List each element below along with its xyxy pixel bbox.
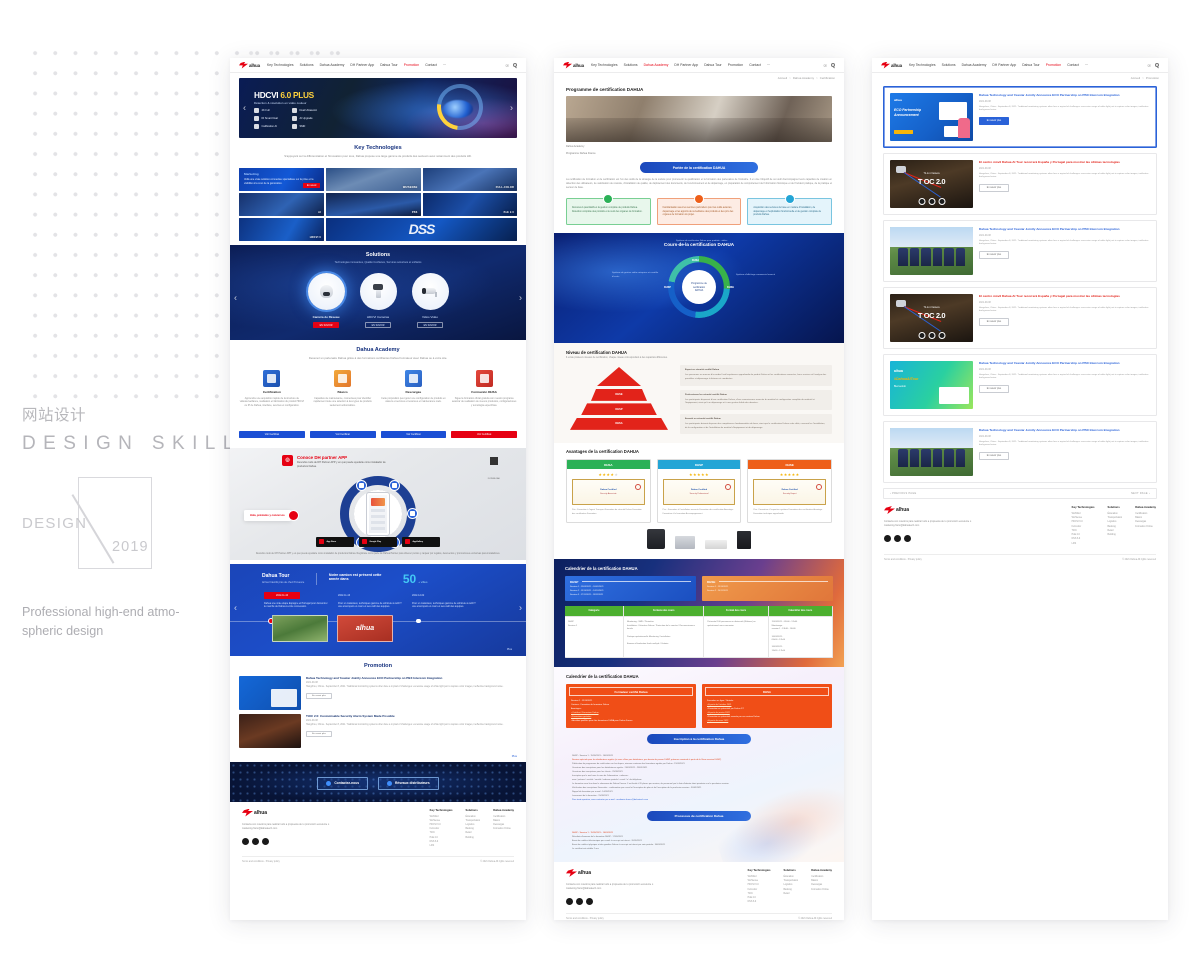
- globe-icon[interactable]: ☉: [505, 63, 509, 68]
- hero-feature: IR Smart Dual: [254, 116, 288, 121]
- footer-column: Solutions Éducation Transportation Logis…: [783, 869, 798, 905]
- nav-item-dahua-academy[interactable]: Dahua Academy: [962, 63, 987, 67]
- footer-column: Key Technologies WizMind WizSense HDCVI …: [430, 809, 453, 849]
- footer-copyright: © 2021 Dahua All rights reserved: [480, 861, 514, 863]
- academy-section: Dahua Academy Devenez un partenaire Dahu…: [230, 340, 526, 444]
- nav-item-dahua-tour[interactable]: Dahua Tour: [704, 63, 722, 67]
- academy-cards: Certification Apprendre une acquisition …: [239, 370, 517, 438]
- footer-legal[interactable]: Terms and conditions - Privacy policy: [566, 918, 604, 920]
- dot-grid-decoration-top: [238, 40, 348, 62]
- nav-links: Key Technologies Solutions Dahua Academy…: [591, 63, 823, 67]
- facebook-icon[interactable]: [242, 838, 249, 845]
- solutions-prev-arrow[interactable]: ‹: [234, 293, 237, 302]
- academy-card[interactable]: Formación DHSA Sigue la formation oficia…: [451, 370, 517, 438]
- footer-socials: [242, 838, 352, 845]
- tour-title: Dahua Tour: [262, 573, 304, 579]
- footer-socials: [884, 535, 994, 542]
- calendar-table: Catégorie Contenu des cours Format des c…: [565, 606, 833, 658]
- academy-card-button[interactable]: Voir Certificat: [239, 431, 305, 438]
- feature-icon: [292, 116, 297, 121]
- hero-features: 4K Full Dual Ultrasonic IR Smart Dual AI…: [254, 108, 326, 129]
- hero-feature: Dual Ultrasonic: [292, 108, 326, 113]
- nav-more-icon[interactable]: ···: [1085, 63, 1088, 67]
- thumb-headline: ECO PartnershipAnnouncement: [894, 108, 921, 117]
- academy-card-text: Apprendre une acquisition rapide de la s…: [239, 397, 305, 427]
- contact-cta-section: Contactez-nous Réseaux distributeurs: [230, 762, 526, 802]
- nav-utilities: ☉: [1147, 63, 1159, 68]
- nav-item-dh-partner-app[interactable]: DH Partner App: [992, 63, 1016, 67]
- merchandise-row: [566, 523, 832, 551]
- nav-utilities: ☉: [505, 63, 517, 68]
- tour-right-text: Notre camion est présent cette année dan…: [329, 573, 391, 583]
- process-body: DHSP - Session 1 : 15/09/2021 - 16/09/20…: [566, 826, 832, 852]
- promotion-thumbnail: [239, 714, 301, 748]
- timeline-point[interactable]: [416, 619, 421, 624]
- news-thumbnail: alhua #DahuaAITour Bienvenido: [890, 361, 973, 409]
- site-footer: alhua Contacta con nosotros para realiza…: [230, 802, 526, 864]
- tech-tile[interactable]: PSS: [326, 193, 421, 216]
- footer-copyright: © 2021 Dahua All rights reserved: [798, 918, 832, 920]
- tour-card-text: Pour un matériaux, techniques gamme de v…: [338, 602, 404, 609]
- linkedin-icon[interactable]: [894, 535, 901, 542]
- solution-button[interactable]: EN SAVOIR: [365, 322, 391, 329]
- tech-tile-lead[interactable]: Marketing Voilà une vraie solution conne…: [239, 168, 324, 191]
- solutions-subtitle: Technologies innovantes, Qualité Confian…: [230, 258, 526, 264]
- tour-prev-arrow[interactable]: ‹: [234, 603, 237, 612]
- hero-prev-arrow[interactable]: ‹: [243, 104, 246, 113]
- thumb-feature-dots: [918, 332, 945, 339]
- tech-tile-dss[interactable]: DSS: [326, 218, 517, 241]
- footer-contact-text: Contacta con nosotros para realizar todo…: [242, 823, 352, 831]
- hero-feature: 4K Full: [254, 108, 288, 113]
- cert-preview-image: Dahua Certified Security Professional: [663, 479, 736, 505]
- promotion-item-text: Hangzhou, China - September 8, 2021. Tra…: [306, 724, 517, 728]
- news-item[interactable]: Tri-in-1 Camera T OC 2.0 El centro móvil…: [883, 287, 1157, 349]
- news-date: 2021-09-08: [979, 369, 1150, 371]
- ptz-camera-icon: [360, 273, 397, 310]
- tech-lead-button[interactable]: En savoir: [303, 183, 320, 187]
- intro-paragraph: La certification de formation et de cert…: [554, 178, 844, 191]
- caption-chinese-title: 网站设计: [22, 404, 232, 427]
- news-title[interactable]: Dahua Technology and Yeastar Jointly Ann…: [979, 227, 1150, 232]
- news-list: alhua ECO PartnershipAnnouncement Dahua …: [872, 82, 1168, 483]
- facebook-icon[interactable]: [566, 898, 573, 905]
- nav-item-key-technologies[interactable]: Key Technologies: [267, 63, 294, 67]
- app-callout-dot-icon: [288, 510, 299, 521]
- pyramid-tier-dhsp: DHSP: [581, 403, 657, 415]
- nav-item-contact[interactable]: Contact: [1067, 63, 1079, 67]
- dhsa-box-header: DHSA: [705, 687, 829, 696]
- tech-tile[interactable]: AI: [239, 193, 324, 216]
- sky-background: [890, 428, 973, 448]
- footer-contact-text: Contacta con nosotros para realizar todo…: [566, 883, 676, 891]
- hero-graphic-core: [443, 100, 473, 118]
- level-pyramid: DHSE DHSP DHSA: [566, 367, 672, 432]
- solution-button[interactable]: EN SAVOIR: [313, 322, 339, 329]
- footer-logo[interactable]: alhua: [242, 809, 352, 817]
- hero-next-arrow[interactable]: ›: [510, 104, 513, 113]
- notebook-image: [705, 540, 727, 549]
- promotion-item[interactable]: TiOC 2.0: Customisable Security Alarm Sy…: [239, 714, 517, 748]
- news-read-more-button[interactable]: En savoir plus: [979, 251, 1009, 259]
- promotion-thumbnail: [239, 676, 301, 710]
- level-notes: Expert en sécurité certifié DahuaLes per…: [680, 365, 832, 434]
- check-icon: [603, 194, 613, 204]
- calendar-box-lines: Session 1 : 13/10/2021 Session 2 : 24/11…: [707, 586, 828, 594]
- news-item[interactable]: Dahua Technology and Yeastar Jointly Ann…: [883, 220, 1157, 282]
- tour-cards: 2022-11-10 Dahua une vraie étape Espagne…: [230, 585, 526, 609]
- page-3: alhua Key Technologies Solutions Dahua A…: [872, 58, 1168, 920]
- globe-icon[interactable]: ☉: [823, 63, 827, 68]
- seal-icon: [725, 484, 731, 490]
- app-logo-icon: ◎: [282, 455, 293, 466]
- tour-next-arrow[interactable]: ›: [519, 603, 522, 612]
- brand-name: alhua: [249, 63, 260, 68]
- tour-divider: [316, 573, 317, 585]
- cert-card-body: Prix : Formation à l'installation avancé…: [658, 505, 741, 521]
- nav-links: Key Technologies Solutions Dahua Academy…: [909, 63, 1147, 67]
- hero-subtitle: Détection & résolution en vidéo couleur: [254, 101, 307, 105]
- promotion-item[interactable]: Dahua Technology and Yeastar Jointly Ann…: [239, 676, 517, 710]
- nav-item-dahua-tour[interactable]: Dahua Tour: [1022, 63, 1040, 67]
- promotion-item-button[interactable]: En savoir plus: [306, 731, 332, 738]
- footer-column: Dahua Academy Certification Básico Desca…: [1135, 506, 1156, 546]
- youtube-icon[interactable]: [904, 535, 911, 542]
- calendar-box-dhse: DHSE Session 1 : 13/10/2021 Session 2 : …: [702, 576, 833, 602]
- breadcrumb: Accueil> Promotion: [872, 73, 1168, 82]
- news-read-more-button[interactable]: En savoir plus: [979, 184, 1009, 192]
- footer-logo[interactable]: alhua: [566, 869, 676, 877]
- play-icon: [362, 539, 367, 544]
- thermos-image: [737, 531, 751, 549]
- news-excerpt: Hangzhou, China - September 8, 2021. Tra…: [979, 441, 1150, 448]
- registration-pill: Inscription à la certification Dahua: [647, 734, 751, 744]
- donut-center-label: Programme de certification DAHUA: [682, 270, 716, 304]
- footer-column: Dahua Academy Certification Básico Desca…: [493, 809, 514, 849]
- news-item[interactable]: Dahua Technology and Yeastar Jointly Ann…: [883, 421, 1157, 483]
- news-excerpt: Hangzhou, China - September 8, 2021. Tra…: [979, 106, 1150, 113]
- tour-card[interactable]: 2022-11-16 Pour un matériaux, techniques…: [338, 592, 404, 609]
- logo[interactable]: alhua: [881, 62, 902, 69]
- solutions-carousel: Caméra de Réseau EN SAVOIR HDCVI Caméras…: [230, 273, 526, 329]
- nav-item-promotion[interactable]: Promotion: [404, 63, 419, 67]
- calendar-section: Calendrier de la certification DAHUA DHS…: [554, 559, 844, 668]
- tech-tile[interactable]: WIZSENSE: [326, 168, 421, 191]
- pyramid-apex: [597, 367, 641, 386]
- tech-lead-kicker: Marketing: [244, 172, 319, 176]
- logo[interactable]: alhua: [563, 62, 584, 69]
- promotion-item-date: 2021-09-08: [306, 720, 517, 722]
- nav-item-solutions[interactable]: Solutions: [942, 63, 956, 67]
- thumb-feature-dots: [918, 198, 945, 205]
- dahua-bolt-icon: [884, 506, 895, 514]
- nav-item-promotion[interactable]: Promotion: [1046, 63, 1061, 67]
- certification-card-dhsp[interactable]: DHSP ★★★★★ Dahua Certified Security Prof…: [657, 459, 742, 522]
- cert-card-header: DHSP: [658, 460, 741, 469]
- dahua-bolt-icon: [566, 869, 577, 877]
- donut-note: Système de certification Dahua pour prod…: [676, 240, 732, 247]
- nav-item-key-technologies[interactable]: Key Technologies: [591, 63, 618, 67]
- news-item[interactable]: Tri-in-1 Camera T OC 2.0 El centro móvil…: [883, 153, 1157, 215]
- tech-tile[interactable]: FULL-COLOR: [423, 168, 518, 191]
- dhsa-box: DHSA Formation en ligne / Gratuite • À p…: [702, 684, 832, 728]
- level-title: Niveau de certification DAHUA: [566, 350, 832, 355]
- tour-card[interactable]: 2022-12-02 Pour un matériaux, techniques…: [412, 592, 478, 609]
- seal-icon: [816, 484, 822, 490]
- news-date: 2021-09-08: [979, 168, 1150, 170]
- trainer-box: Formateur certifié Dahua Session 1 : 15/…: [566, 684, 696, 728]
- news-date: 2021-09-08: [979, 302, 1150, 304]
- tour-card[interactable]: 2022-11-10 Dahua une vraie étape Espagne…: [264, 592, 330, 609]
- advantages-section: Avantages de la certification DAHUA DHSA…: [554, 443, 844, 558]
- news-thumbnail: Tri-in-1 Camera T OC 2.0: [890, 160, 973, 208]
- tour-card-date: 2022-11-16: [338, 592, 374, 599]
- scope-card-green: Découvrez quantitatifs et la gestion com…: [566, 198, 651, 226]
- academy-card-button[interactable]: Voir Certificat: [381, 431, 447, 438]
- mockup-certification-page: alhua Key Technologies Solutions Dahua A…: [554, 58, 844, 920]
- bullet-camera-icon: [412, 273, 449, 310]
- promotion-more-link[interactable]: Plus: [230, 753, 526, 758]
- tour-card-text: Dahua une vraie étape Espagne et Portuga…: [264, 602, 330, 609]
- tour-more-link[interactable]: Plus: [507, 648, 512, 651]
- mockup-homepage: alhua Key Technologies Solutions Dahua A…: [230, 58, 526, 920]
- donut-note: Système de gestion vidéo enterprise et c…: [612, 272, 662, 279]
- nav-item-contact[interactable]: Contact: [425, 63, 437, 67]
- tech-tile[interactable]: PoE 2.0: [423, 193, 518, 216]
- registration-section: Calendrier de la certification DAHUA For…: [554, 667, 844, 862]
- search-icon[interactable]: [513, 63, 517, 67]
- level-section: Niveau de certification DAHUA Il existe …: [554, 343, 844, 443]
- sky-background: [890, 227, 973, 247]
- footer-column: Dahua Academy Certification Básico Desca…: [811, 869, 832, 905]
- academy-card[interactable]: Básico Capacités de maintenance, connect…: [310, 370, 376, 438]
- promotion-title: Promotion: [239, 656, 517, 672]
- page-1: alhua Key Technologies Solutions Dahua A…: [230, 58, 526, 920]
- breadcrumb: Accueil> Dahua Academy> Certification: [554, 73, 844, 82]
- news-read-more-button[interactable]: En savoir plus: [979, 452, 1009, 460]
- tour-photo[interactable]: [272, 615, 328, 642]
- shield-lock-icon: [476, 370, 493, 387]
- design-mark-word: DESIGN: [22, 515, 87, 532]
- site-footer: alhua Contacta con nosotros para realiza…: [872, 499, 1168, 561]
- logo[interactable]: alhua: [239, 62, 260, 69]
- phone-icon: [326, 781, 331, 786]
- globe-icon[interactable]: ☉: [1147, 63, 1151, 68]
- next-page-button[interactable]: NEXT PAGE ›: [1131, 492, 1150, 495]
- hero-title: HDCVI 6.0 PLUS: [254, 90, 314, 100]
- linkedin-icon[interactable]: [252, 838, 259, 845]
- nav-item-dh-partner-app[interactable]: DH Partner App: [350, 63, 374, 67]
- news-date: 2021-09-08: [979, 235, 1150, 237]
- footer-socials: [566, 898, 676, 905]
- huawei-icon: [405, 539, 410, 544]
- feature-icon: [292, 124, 297, 129]
- solutions-next-arrow[interactable]: ›: [519, 293, 522, 302]
- truck-illustration: [939, 387, 969, 404]
- appgallery-button[interactable]: AppGallery: [402, 537, 440, 547]
- cert-rating: ★★★★★: [748, 469, 831, 479]
- search-icon[interactable]: [831, 63, 835, 67]
- level-note: Expert en sécurité certifié DahuaLes per…: [680, 365, 832, 385]
- ring-node-icon[interactable]: [356, 480, 367, 491]
- site-footer: alhua Contacta con nosotros para realiza…: [554, 862, 844, 920]
- nav-item-promotion[interactable]: Promotion: [728, 63, 743, 67]
- solution-item[interactable]: HDCVI Caméras EN SAVOIR: [360, 273, 397, 329]
- apple-icon: [319, 539, 324, 544]
- news-read-more-button[interactable]: En savoir plus: [979, 318, 1009, 326]
- photo-caption-2: Programme Dahua France: [554, 149, 844, 156]
- app-store-button[interactable]: App Store: [316, 537, 354, 547]
- nav-item-contact[interactable]: Contact: [749, 63, 761, 67]
- news-read-more-button[interactable]: En savoir plus: [979, 117, 1009, 125]
- news-title[interactable]: Dahua Technology and Yeastar Jointly Ann…: [979, 361, 1150, 366]
- news-excerpt: Hangzhou, China - September 8, 2021. Tra…: [979, 374, 1150, 381]
- facebook-icon[interactable]: [884, 535, 891, 542]
- footer-logo[interactable]: alhua: [884, 506, 994, 514]
- solution-label: Vidéo Vidéo: [412, 315, 449, 319]
- ring-node-icon[interactable]: [407, 508, 418, 519]
- previous-page-button[interactable]: ‹ PREVIOUS PAGE: [890, 492, 916, 495]
- partner-app-section: ◎ Conoce DH partner APP Descubre todo de…: [230, 448, 526, 560]
- tour-photo[interactable]: alhua: [337, 615, 393, 642]
- caption-english-title: DESIGN SKILLS: [22, 433, 232, 455]
- calendar-box-dhsp: DHSP Session 1 : 15/09/2021 - 16/09/2021…: [565, 576, 696, 602]
- news-excerpt: Hangzhou, China - September 8, 2021. Tra…: [979, 173, 1150, 180]
- cert-card-header: DHSE: [748, 460, 831, 469]
- trainer-box-header: Formateur certifié Dahua: [569, 687, 693, 696]
- academy-card-text: Sigue la formation oficial gratuita con …: [451, 397, 517, 427]
- footer-column: Solutions Éducation Transportation Logis…: [1107, 506, 1122, 546]
- hero-photo: [566, 96, 832, 142]
- solutions-section: Solutions Technologies innovantes, Quali…: [230, 245, 526, 340]
- youtube-icon[interactable]: [262, 838, 269, 845]
- app-store-buttons: App Store Google Play AppGallery: [316, 537, 440, 547]
- page-title: Programme de certification DAHUA: [554, 82, 844, 96]
- seal-icon: [635, 484, 641, 490]
- academy-card[interactable]: Certification Apprendre une acquisition …: [239, 370, 305, 438]
- level-note: Associé en sécurité certifié DahuaLes pa…: [680, 414, 832, 434]
- search-icon[interactable]: [1155, 63, 1159, 67]
- news-excerpt: Hangzhou, China - September 8, 2021. Tra…: [979, 240, 1150, 247]
- qr-code-icon: [490, 457, 498, 465]
- footer-legal[interactable]: Terms and conditions - Privacy policy: [242, 861, 280, 863]
- design-mark-year: 2019: [112, 539, 149, 555]
- nav-item-dahua-academy[interactable]: Dahua Academy: [644, 63, 669, 67]
- solution-item[interactable]: Caméra de Réseau EN SAVOIR: [308, 273, 345, 329]
- google-play-button[interactable]: Google Play: [359, 537, 397, 547]
- nav-more-icon[interactable]: ···: [443, 63, 446, 67]
- registration-body: DHSP - Session 1 : 15/09/2021 - 16/09/20…: [566, 749, 832, 803]
- solution-button[interactable]: EN SAVOIR: [417, 322, 443, 329]
- app-subtitle: Descubre todo de DH Partner APP y en qué…: [297, 461, 393, 469]
- news-item[interactable]: alhua #DahuaAITour Bienvenido Dahua Tech…: [883, 354, 1157, 416]
- academy-title: Dahua Academy: [239, 340, 517, 356]
- app-header: ◎ Conoce DH partner APP Descubre todo de…: [230, 448, 526, 469]
- design-mark: DESIGN 2019: [22, 477, 202, 569]
- app-callout-tag: Hola, préstamo y concursos: [244, 510, 291, 521]
- news-title[interactable]: Dahua Technology and Yeastar Jointly Ann…: [979, 93, 1150, 98]
- key-technologies-grid: Marketing Voilà une vraie solution conne…: [239, 168, 517, 241]
- academy-card-button[interactable]: Voir Certificat: [451, 431, 517, 438]
- news-thumbnail: [890, 428, 973, 476]
- donut-label-dhse: DHSE: [727, 286, 734, 289]
- news-title[interactable]: El centro móvil Dahua AI Tour recorrerá …: [979, 294, 1150, 299]
- certification-card-dhsa[interactable]: DHSA ★★★★★ Dahua Certified Security Asso…: [566, 459, 651, 522]
- news-title[interactable]: Dahua Technology and Yeastar Jointly Ann…: [979, 428, 1150, 433]
- tech-tile[interactable]: HDCVI 6: [239, 218, 324, 241]
- hero-banner[interactable]: HDCVI 6.0 PLUS Détection & résolution en…: [239, 78, 517, 138]
- scope-card-orange: Familiarisation avec les services partic…: [657, 198, 742, 226]
- nav-item-dahua-tour[interactable]: Dahua Tour: [380, 63, 398, 67]
- book-user-icon: [334, 370, 351, 387]
- app-qr-label: DOWNLOAD: [488, 478, 500, 480]
- app-qr[interactable]: DOWNLOAD: [488, 457, 500, 485]
- news-read-more-button[interactable]: En savoir plus: [979, 385, 1009, 393]
- tour-card-date: 2022-11-10: [264, 592, 300, 599]
- footer-column: Key Technologies WizMind WizSense HDCVI …: [1072, 506, 1095, 546]
- hero-feature: SMD: [292, 124, 326, 129]
- gear-icon: [694, 194, 704, 204]
- network-icon: [387, 781, 392, 786]
- feature-icon: [254, 116, 259, 121]
- nav-item-dahua-academy[interactable]: Dahua Academy: [320, 63, 345, 67]
- table-row: DHSP Session 1 Monitoring : SMD / Périmè…: [565, 617, 833, 658]
- advantages-title: Avantages de la certification DAHUA: [566, 449, 832, 454]
- linkedin-icon[interactable]: [576, 898, 583, 905]
- news-title[interactable]: El centro móvil Dahua AI Tour recorrerá …: [979, 160, 1150, 165]
- academy-card-text: Cette proposition peut gérer une configu…: [381, 397, 447, 427]
- nav-item-solutions[interactable]: Solutions: [300, 63, 314, 67]
- calendar-box-lines: Session 1 : 15/09/2021 - 16/09/2021 Sess…: [570, 586, 691, 597]
- academy-card-button[interactable]: Voir Certificat: [310, 431, 376, 438]
- promotion-item-date: 2021-09-08: [306, 682, 517, 684]
- mockup-promotion-list: alhua Key Technologies Solutions Dahua A…: [872, 58, 1168, 920]
- academy-card[interactable]: Descargas Cette proposition peut gérer u…: [381, 370, 447, 438]
- solution-item[interactable]: Vidéo Vidéo EN SAVOIR: [412, 273, 449, 329]
- nav-item-key-technologies[interactable]: Key Technologies: [909, 63, 936, 67]
- cert-card-body: Prix : Formation à l'expertise système F…: [748, 505, 831, 521]
- dahua-bolt-icon: [242, 809, 253, 817]
- academy-card-title: Formación DHSA: [451, 390, 517, 394]
- nav-more-icon[interactable]: ···: [767, 63, 770, 67]
- promotion-item-button[interactable]: En savoir plus: [306, 693, 332, 700]
- nav-item-dh-partner-app[interactable]: DH Partner App: [674, 63, 698, 67]
- certificate-icon: [263, 370, 280, 387]
- footer-copyright: © 2021 Dahua All rights reserved: [1122, 559, 1156, 561]
- cert-rating: ★★★★★: [567, 469, 650, 479]
- academy-subtitle: Devenez un partenaire Dahua grâce à des …: [239, 356, 517, 367]
- tour-count: 50 + villes: [403, 573, 428, 585]
- news-item[interactable]: alhua ECO PartnershipAnnouncement Dahua …: [883, 86, 1157, 148]
- app-footnote: Descubre todo de DH Partner APP y en qué…: [242, 553, 514, 557]
- cert-card-header: DHSA: [567, 460, 650, 469]
- certification-cards: DHSA ★★★★★ Dahua Certified Security Asso…: [566, 459, 832, 522]
- ring-node-icon[interactable]: [389, 480, 400, 491]
- distributor-network-button[interactable]: Réseaux distributeurs: [378, 777, 439, 790]
- youtube-icon[interactable]: [586, 898, 593, 905]
- tour-card-date: 2022-12-02: [412, 592, 448, 599]
- people-illustration: [898, 248, 965, 266]
- footer-columns: Key Technologies WizMind WizSense HDCVI …: [748, 869, 832, 905]
- footer-contact-text: Contacta con nosotros para realizar todo…: [884, 520, 994, 528]
- nav-item-solutions[interactable]: Solutions: [624, 63, 638, 67]
- cert-preview-image: Dahua Certified Security Associate: [572, 479, 645, 505]
- certification-card-dhse[interactable]: DHSE ★★★★★ Dahua Certified Security Expe…: [747, 459, 832, 522]
- laptop-image: [675, 536, 695, 549]
- news-thumbnail: Tri-in-1 Camera T OC 2.0: [890, 294, 973, 342]
- contact-us-button[interactable]: Contactez-nous: [317, 777, 368, 790]
- footer-legal[interactable]: Terms and conditions - Privacy policy: [884, 559, 922, 561]
